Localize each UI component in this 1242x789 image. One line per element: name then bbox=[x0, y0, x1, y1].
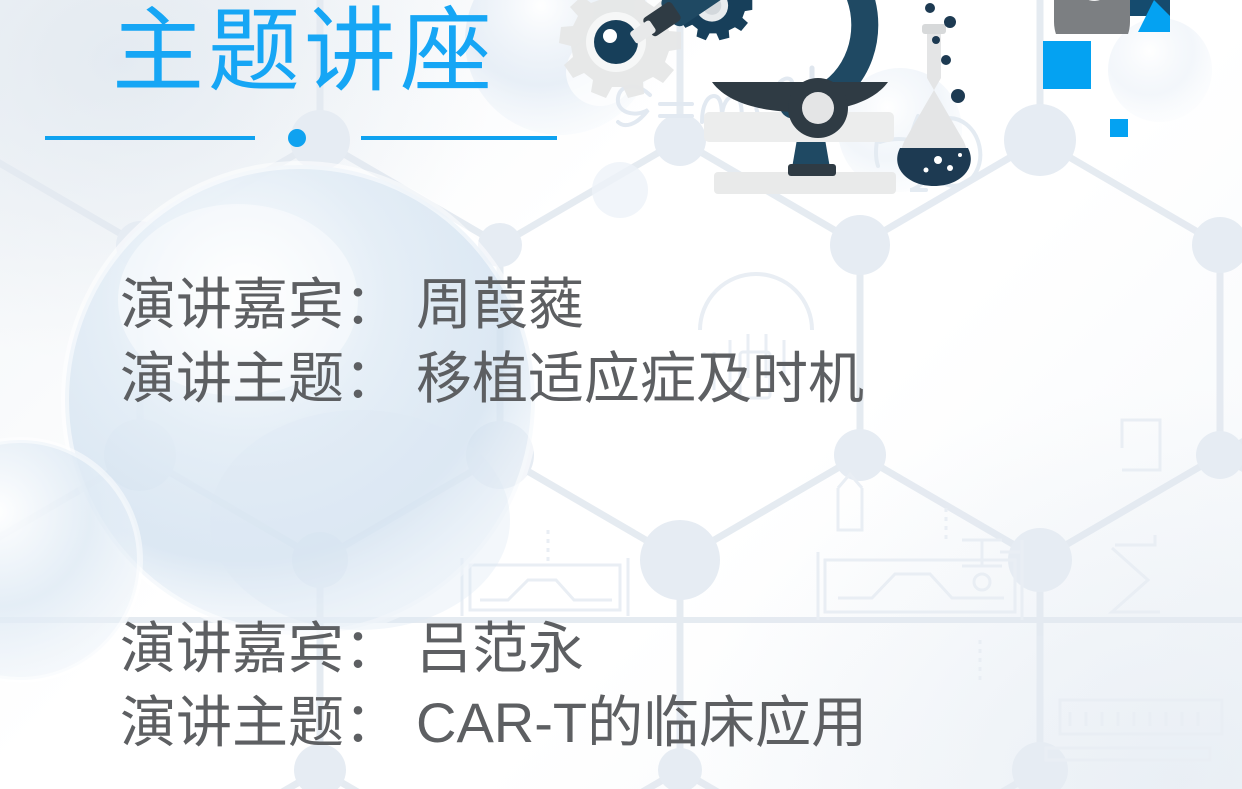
page-title: 主题讲座 bbox=[112, 0, 496, 108]
bubble-sphere-left bbox=[0, 440, 140, 680]
microscope-icon bbox=[623, 0, 896, 194]
speaker-2-topic-line: 演讲主题：CAR-T的临床应用 bbox=[120, 686, 867, 760]
dot-divider bbox=[45, 128, 557, 148]
brand-logo-svg bbox=[1054, 0, 1170, 34]
speaker-2-guest-label: 演讲嘉宾： bbox=[120, 617, 400, 680]
speaker-2-topic-name: CAR-T的临床应用 bbox=[416, 691, 867, 754]
flask-icon bbox=[897, 0, 971, 186]
speaker-1-topic-line: 演讲主题：移植适应症及时机 bbox=[120, 342, 864, 416]
speaker-1-topic-name: 移植适应症及时机 bbox=[416, 347, 864, 410]
blue-square-small bbox=[1110, 119, 1128, 137]
speaker-1-guest-name: 周葭蕤 bbox=[416, 273, 584, 336]
blue-square-large bbox=[1043, 41, 1091, 89]
divider-line-right bbox=[361, 136, 557, 140]
divider-dot-icon bbox=[288, 129, 306, 147]
speaker-2-guest-name: 吕范永 bbox=[416, 617, 584, 680]
divider-line-left bbox=[45, 136, 255, 140]
speaker-2-topic-label: 演讲主题： bbox=[120, 691, 400, 754]
speaker-1-guest-line: 演讲嘉宾：周葭蕤 bbox=[120, 268, 864, 342]
speaker-1-topic-label: 演讲主题： bbox=[120, 347, 400, 410]
gear-icon-small bbox=[677, 0, 753, 40]
brand-logo bbox=[1054, 0, 1170, 34]
speaker-1-guest-label: 演讲嘉宾： bbox=[120, 273, 400, 336]
plus-sign-icon bbox=[790, 68, 834, 112]
speaker-block-2: 演讲嘉宾：吕范永 演讲主题：CAR-T的临床应用 bbox=[120, 612, 867, 760]
gear-icon-large bbox=[559, 0, 681, 98]
formula-emc2 bbox=[618, 79, 794, 126]
speaker-2-guest-line: 演讲嘉宾：吕范永 bbox=[120, 612, 867, 686]
speaker-block-1: 演讲嘉宾：周葭蕤 演讲主题：移植适应症及时机 bbox=[120, 268, 864, 416]
slide-canvas: 主题讲座 演讲嘉宾：周葭蕤 演讲主题：移植适应症及时机 演讲嘉宾：吕范永 演讲主… bbox=[0, 0, 1242, 789]
formula-h2o bbox=[876, 113, 986, 191]
